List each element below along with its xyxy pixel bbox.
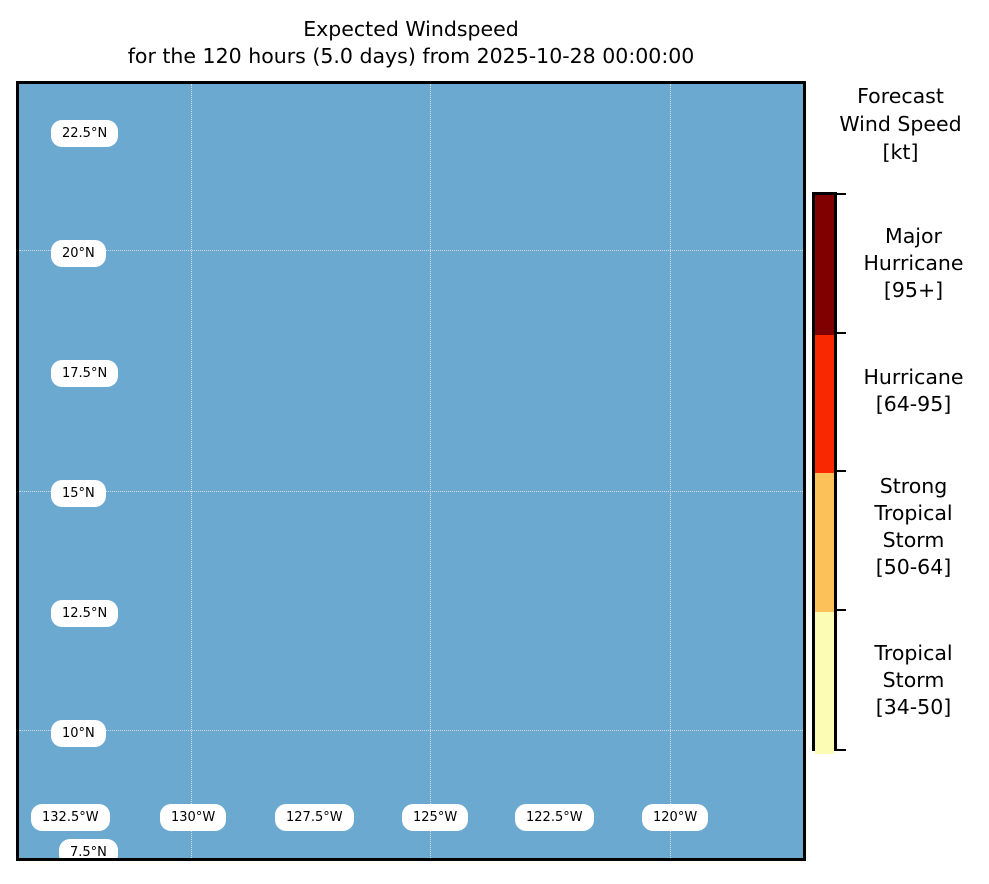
colorbar-title: Forecast Wind Speed [kt]: [812, 82, 989, 166]
forecast-map-axes[interactable]: 22.5°N20°N17.5°N15°N12.5°N10°N7.5°N 132.…: [16, 81, 806, 861]
longitude-label: 125°W: [404, 806, 466, 829]
colorbar-tick: [837, 332, 846, 334]
gridline-horizontal: [19, 250, 803, 251]
colorbar-category-label: Strong Tropical Storm [50-64]: [838, 473, 989, 581]
gridline-vertical: [191, 84, 192, 858]
longitude-label: 122.5°W: [517, 806, 592, 829]
colorbar-segment[interactable]: [815, 612, 834, 754]
gridline-horizontal: [19, 730, 803, 731]
colorbar-segment[interactable]: [815, 335, 834, 473]
colorbar-category-label: Major Hurricane [95+]: [838, 223, 989, 304]
gridline-vertical: [430, 84, 431, 858]
latitude-label: 20°N: [53, 242, 104, 265]
longitude-label: 132.5°W: [33, 806, 108, 829]
colorbar-tick: [837, 749, 846, 751]
colorbar-segment[interactable]: [815, 195, 834, 335]
latitude-label: 22.5°N: [53, 122, 116, 145]
colorbar-tick: [837, 193, 846, 195]
colorbar-category-label: Tropical Storm [34-50]: [838, 640, 989, 721]
colorbar-segment[interactable]: [815, 473, 834, 612]
page-title: Expected Windspeed for the 120 hours (5.…: [0, 16, 822, 70]
longitude-label: 127.5°W: [277, 806, 352, 829]
latitude-label: 12.5°N: [53, 602, 116, 625]
colorbar-category-label: Hurricane [64-95]: [838, 364, 989, 418]
colorbar-tick: [837, 609, 846, 611]
latitude-label: 10°N: [53, 722, 104, 745]
ocean-background: [19, 84, 803, 858]
latitude-label: 17.5°N: [53, 362, 116, 385]
latitude-label: 15°N: [53, 482, 104, 505]
latitude-label: 7.5°N: [61, 841, 116, 861]
wind-speed-colorbar[interactable]: [812, 192, 837, 751]
longitude-label: 120°W: [644, 806, 706, 829]
gridline-vertical: [670, 84, 671, 858]
colorbar-tick: [837, 470, 846, 472]
longitude-label: 130°W: [162, 806, 224, 829]
gridline-horizontal: [19, 491, 803, 492]
